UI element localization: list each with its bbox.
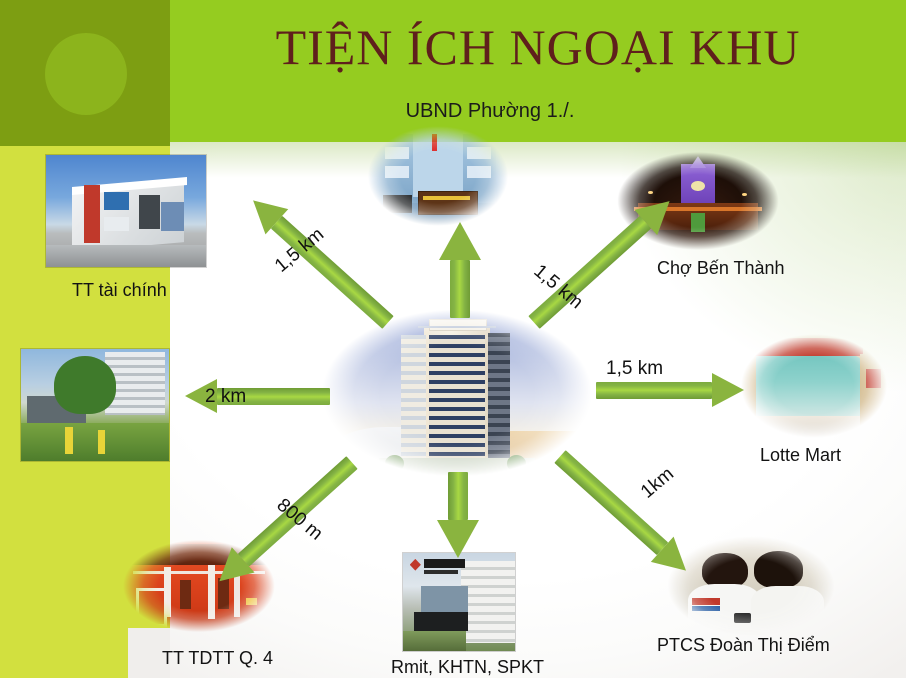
- window-left-1: [385, 147, 408, 159]
- uniform-stripe-blue: [692, 606, 720, 611]
- tower-crown-line: [418, 326, 496, 328]
- gym-equipment-1: [180, 580, 191, 609]
- arrow-right-label: 1,5 km: [606, 358, 663, 380]
- photo-rmit-khtn-spkt[interactable]: [402, 552, 516, 652]
- right-wall: [860, 354, 890, 427]
- lotte-red-sign: [753, 338, 862, 355]
- photo-ubnd-phuong-1[interactable]: [365, 124, 511, 228]
- tree-canopy: [54, 356, 116, 414]
- lawn: [21, 423, 169, 461]
- arrow-down[interactable]: [448, 472, 468, 558]
- rmit-wordmark: [424, 559, 464, 568]
- billboard-1: [104, 192, 130, 210]
- caption-ptcs-doan-thi-diem: PTCS Đoàn Thị Điểm: [657, 635, 830, 656]
- yellow-flag-2: [98, 430, 105, 455]
- student-left-head: [702, 553, 747, 588]
- gate-dark: [383, 195, 412, 214]
- clock-face: [691, 181, 704, 191]
- window-left-2: [385, 166, 408, 178]
- arrow-down-head: [437, 520, 479, 558]
- photo-lotte-mart[interactable]: [738, 332, 890, 440]
- photo-ptcs-doan-thi-diem[interactable]: [664, 534, 838, 638]
- caption-tt-tai-chinh: TT tài chính: [72, 280, 167, 301]
- sign-text-line: [423, 196, 470, 200]
- wrist-watch: [734, 613, 751, 623]
- ground-floor-entrance: [753, 416, 859, 438]
- red-signage-band: [84, 185, 100, 243]
- rmit-white-wing: [461, 561, 515, 643]
- arrow-right[interactable]: [596, 382, 744, 399]
- arrow-right-shaft: [596, 382, 712, 399]
- arrow-left-label: 2 km: [205, 386, 246, 408]
- entrance-sign-board: [418, 191, 478, 216]
- flag-pole: [432, 134, 436, 151]
- window-right-2: [467, 166, 490, 178]
- slide-canvas: TIỆN ÍCH NGOẠI KHU UBND Phường 1./.: [0, 0, 906, 678]
- street-foreground: [46, 245, 206, 267]
- tree-silhouette: [691, 213, 704, 231]
- photo-tt-tai-chinh[interactable]: [45, 154, 207, 268]
- central-project-image[interactable]: [318, 307, 596, 479]
- tower-right-wing: [488, 333, 510, 472]
- side-panel: [161, 202, 183, 231]
- rmit-grey-block: [421, 586, 468, 613]
- rmit-shadow-recess: [414, 612, 468, 632]
- gym-frame: [136, 588, 167, 627]
- left-accent-column-bottom: [0, 610, 128, 678]
- header-decorative-circle: [45, 33, 127, 115]
- student-right-uniform: [751, 586, 824, 632]
- arrow-down-shaft: [448, 472, 468, 520]
- arrow-up[interactable]: [450, 222, 470, 318]
- arrow-right-head: [712, 373, 744, 407]
- caption-lotte-mart: Lotte Mart: [760, 445, 841, 466]
- yellow-flag-1: [65, 427, 72, 454]
- rmit-university-subtext: [424, 570, 458, 574]
- side-banner: [866, 369, 881, 388]
- billboard-2: [104, 217, 130, 232]
- student-right-head: [754, 551, 803, 588]
- gym-yellow-accent: [246, 598, 257, 606]
- rmit-greenery: [403, 631, 466, 651]
- page-title: TIỆN ÍCH NGOẠI KHU: [170, 18, 906, 76]
- street-lamp-2: [742, 193, 747, 196]
- glass-facade: [139, 195, 160, 229]
- arrow-up-head: [439, 222, 481, 260]
- tower-balcony-stack: [429, 335, 485, 469]
- caption-rmit-khtn-spkt: Rmit, KHTN, SPKT: [391, 657, 544, 678]
- building-center-block: [413, 130, 463, 197]
- tower-left-wing: [401, 335, 426, 473]
- uniform-stripe-red: [692, 598, 720, 604]
- caption-tt-tdtt-q4: TT TDTT Q. 4: [162, 648, 273, 669]
- window-right-1: [467, 147, 490, 159]
- subtitle-ubnd: UBND Phường 1./.: [330, 100, 650, 123]
- photo-park-residential[interactable]: [20, 348, 170, 462]
- arrow-up-shaft: [450, 260, 470, 318]
- caption-cho-ben-thanh: Chợ Bến Thành: [657, 258, 785, 279]
